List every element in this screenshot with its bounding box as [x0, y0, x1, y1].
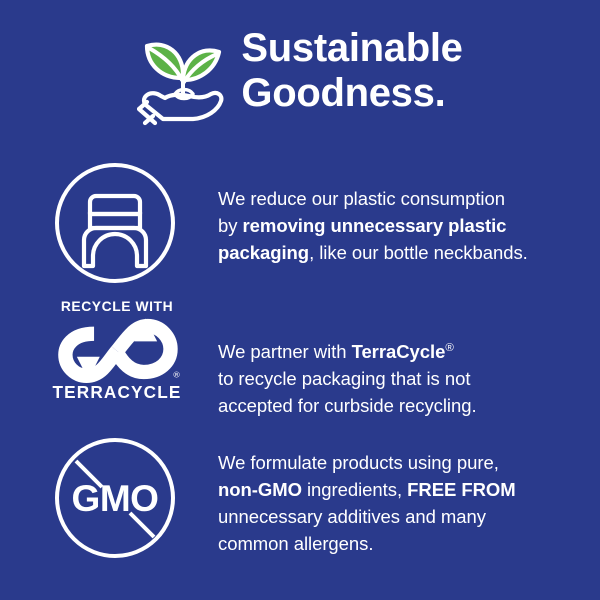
feature-row-non-gmo: GMO We formulate products using pure, no… — [0, 435, 600, 575]
text-line-3-bold: packaging — [218, 242, 309, 263]
non-gmo-icon-label: GMO — [72, 478, 159, 519]
text-line-3: packaging, like our bottle neckbands. — [218, 239, 600, 266]
header: Sustainable Goodness. — [0, 24, 600, 134]
text-line-3: accepted for curbside recycling. — [218, 392, 600, 419]
feature-row-non-gmo-text: We formulate products using pure, non-GM… — [218, 435, 600, 557]
feature-row-terracycle: RECYCLE WITH ® TERRACYCLE — [0, 295, 600, 435]
terracycle-logo-top-text: RECYCLE WITH — [61, 298, 173, 314]
text-line-3: unnecessary additives and many — [218, 503, 600, 530]
text-line-2: to recycle packaging that is not — [218, 365, 600, 392]
text-line-1-bold: TerraCycle — [352, 341, 446, 362]
page-title-line-2: Goodness. — [241, 71, 462, 116]
page-title-line-1: Sustainable — [241, 26, 462, 71]
page-title: Sustainable Goodness. — [241, 24, 462, 116]
registered-mark: ® — [445, 342, 453, 354]
feature-row-plastic-reduction: We reduce our plastic consumption by rem… — [0, 160, 600, 295]
text-line-1: We formulate products using pure, — [218, 449, 600, 476]
terracycle-logo-icon: RECYCLE WITH ® TERRACYCLE — [52, 295, 182, 405]
feature-row-terracycle-text: We partner with TerraCycle® to recycle p… — [218, 295, 600, 419]
text-line-4: common allergens. — [218, 530, 600, 557]
text-line-2-plain: ingredients, — [302, 479, 407, 500]
text-line-2: non-GMO ingredients, FREE FROM — [218, 476, 600, 503]
text-line-1-plain: We partner with — [218, 341, 352, 362]
hand-holding-sprout-icon — [137, 28, 233, 128]
text-line-2-plain: by — [218, 215, 243, 236]
bottle-no-neckband-icon — [52, 160, 182, 286]
text-line-1: We reduce our plastic consumption — [218, 185, 600, 212]
terracycle-logo-registered-mark: ® — [173, 370, 180, 380]
feature-rows: We reduce our plastic consumption by rem… — [0, 160, 600, 575]
text-line-2-bold: removing unnecessary plastic — [243, 215, 507, 236]
text-line-1: We partner with TerraCycle® — [218, 338, 600, 365]
terracycle-logo-bottom-text: TERRACYCLE — [53, 382, 182, 402]
text-line-3-plain: , like our bottle neckbands. — [309, 242, 528, 263]
non-gmo-icon: GMO — [52, 435, 182, 561]
text-line-2: by removing unnecessary plastic — [218, 212, 600, 239]
text-line-2-bold-a: non-GMO — [218, 479, 302, 500]
feature-row-plastic-reduction-text: We reduce our plastic consumption by rem… — [218, 160, 600, 266]
sustainable-goodness-infographic: Sustainable Goodness. We reduce our plas… — [0, 0, 600, 600]
text-line-2-bold-b: FREE FROM — [407, 479, 516, 500]
